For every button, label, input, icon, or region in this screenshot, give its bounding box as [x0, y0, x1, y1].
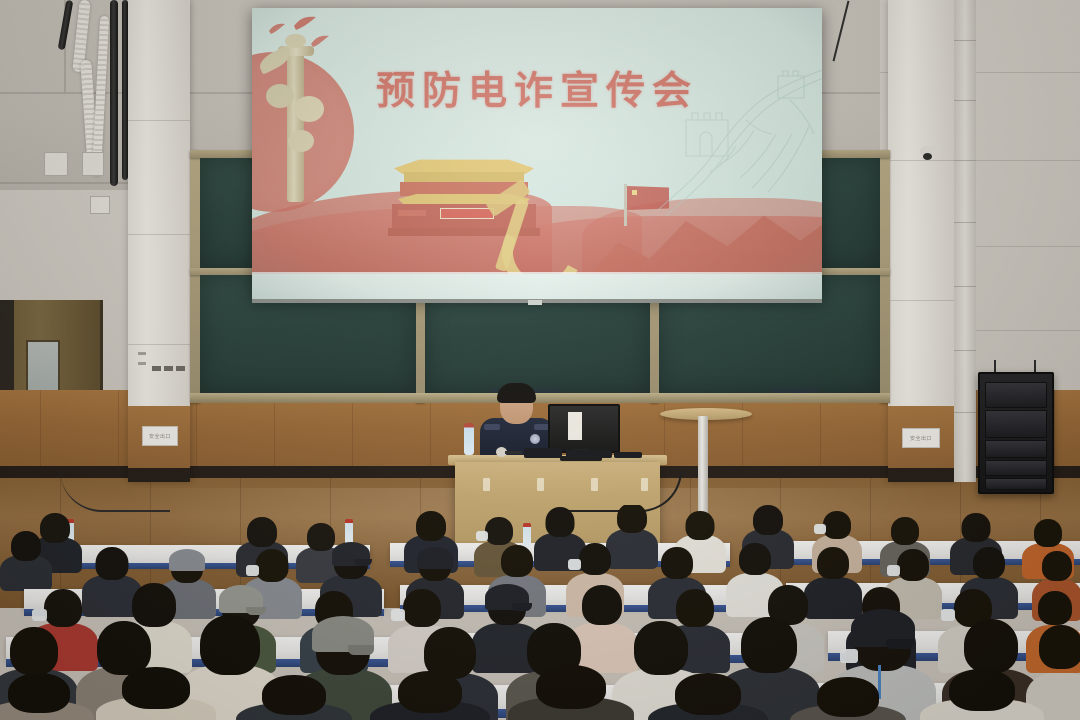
paper-sheet [568, 412, 582, 440]
screen-center-weight [528, 300, 542, 305]
projection-screen: 预防电诈宣传会 [252, 8, 822, 300]
lecture-hall-photo: 安全出口 安全出口 [0, 0, 1080, 720]
right-column: 安全出口 [888, 0, 954, 482]
wall-sign-left: 安全出口 [142, 426, 178, 446]
screen-title: 预防电诈宣传会 [252, 60, 822, 116]
wall-sign-left-text: 安全出口 [149, 433, 171, 440]
audience-member [96, 667, 216, 720]
computer-monitor [548, 404, 620, 453]
outlet-box [90, 196, 110, 214]
junction-box [82, 152, 104, 176]
audience-member [790, 677, 906, 720]
junction-box [44, 152, 68, 176]
desk-equipment [566, 450, 612, 458]
audience-member [508, 665, 634, 720]
water-bottle [464, 423, 474, 455]
microphone [496, 447, 522, 457]
wall-sign-right-text: 安全出口 [910, 435, 932, 442]
left-column: 安全出口 [128, 0, 190, 482]
conduit-icon [110, 0, 118, 186]
audience-member [920, 669, 1044, 720]
dove-icon [310, 34, 330, 53]
wall-sign-right: 安全出口 [902, 428, 940, 448]
wall-pilaster [954, 0, 976, 482]
audience-member [648, 673, 768, 720]
audience-member [370, 671, 490, 720]
audience-member [0, 531, 52, 589]
desk-equipment [614, 452, 642, 458]
av-equipment-rack [978, 372, 1054, 494]
dove-icon [268, 22, 286, 40]
desk-equipment [524, 448, 562, 458]
audience-member [0, 673, 94, 720]
audience-member [236, 675, 352, 720]
security-camera-icon [920, 146, 940, 160]
audience-area [0, 505, 1080, 720]
